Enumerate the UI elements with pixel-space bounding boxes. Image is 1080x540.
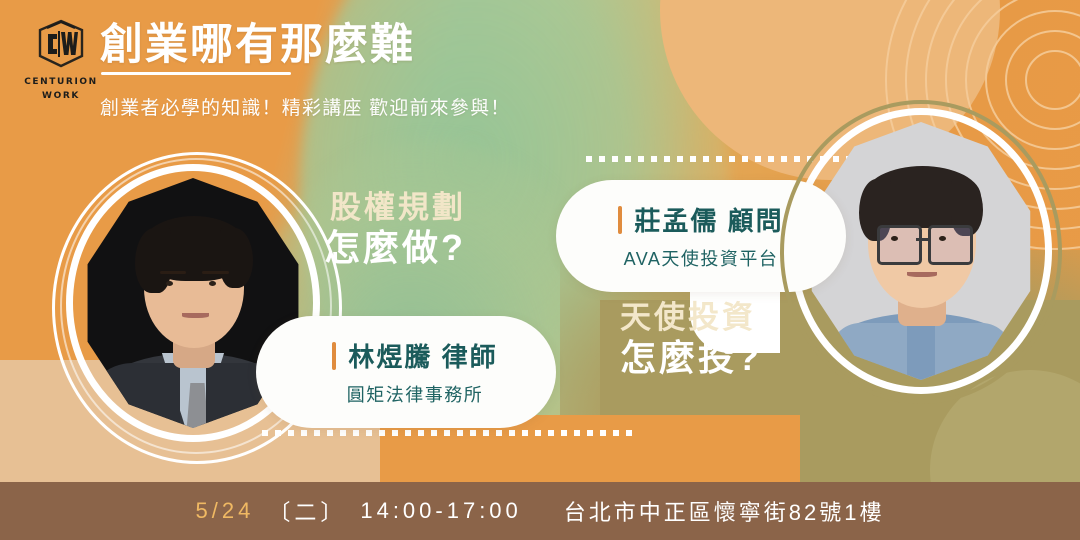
topic-headline-left: 股權規劃 怎麼做? xyxy=(324,190,466,269)
accent-bar-left xyxy=(332,342,336,370)
event-poster-banner: CENTURION WORK 創業哪有那麼難 創業者必學的知識！精彩講座 歡迎前… xyxy=(0,0,1080,540)
event-time: 14:00-17:00 xyxy=(360,498,521,524)
event-weekday: 〔二〕 xyxy=(268,495,346,527)
topic-left-line1: 股權規劃 xyxy=(324,190,466,227)
topic-right-line2: 怎麼投? xyxy=(620,337,762,379)
accent-bar-right xyxy=(618,206,622,234)
dashed-line-bottom-decoration xyxy=(262,430,642,436)
page-title: 創業哪有那麼難 xyxy=(100,22,415,69)
page-subtitle: 創業者必學的知識！精彩講座 歡迎前來參與！ xyxy=(100,93,510,120)
title-underline xyxy=(101,72,291,75)
topic-right-line1: 天使投資 xyxy=(620,300,762,337)
right-photo-olive-ring xyxy=(780,100,1062,404)
brand-name-line1: CENTURION xyxy=(22,76,100,90)
event-info-footer: 5/24 〔二〕 14:00-17:00 台北市中正區懷寧街82號1樓 xyxy=(0,482,1080,540)
event-address: 台北市中正區懷寧街82號1樓 xyxy=(564,495,885,527)
speaker-name-left: 林煜騰 律師 xyxy=(348,337,497,374)
speaker-org-right: AVA天使投資平台 xyxy=(624,245,779,271)
topic-headline-right: 天使投資 怎麼投? xyxy=(620,300,762,379)
speaker-card-left: 林煜騰 律師 圓矩法律事務所 xyxy=(256,316,556,428)
brand-logo: CENTURION WORK xyxy=(22,18,100,103)
speaker-org-left: 圓矩法律事務所 xyxy=(347,381,484,407)
topic-left-line2: 怎麼做? xyxy=(324,227,466,269)
event-date: 5/24 xyxy=(196,498,255,524)
cw-cube-logo-icon xyxy=(35,18,87,70)
speaker-name-right: 莊孟儒 顧問 xyxy=(634,201,783,238)
brand-name-line2: WORK xyxy=(22,90,100,104)
